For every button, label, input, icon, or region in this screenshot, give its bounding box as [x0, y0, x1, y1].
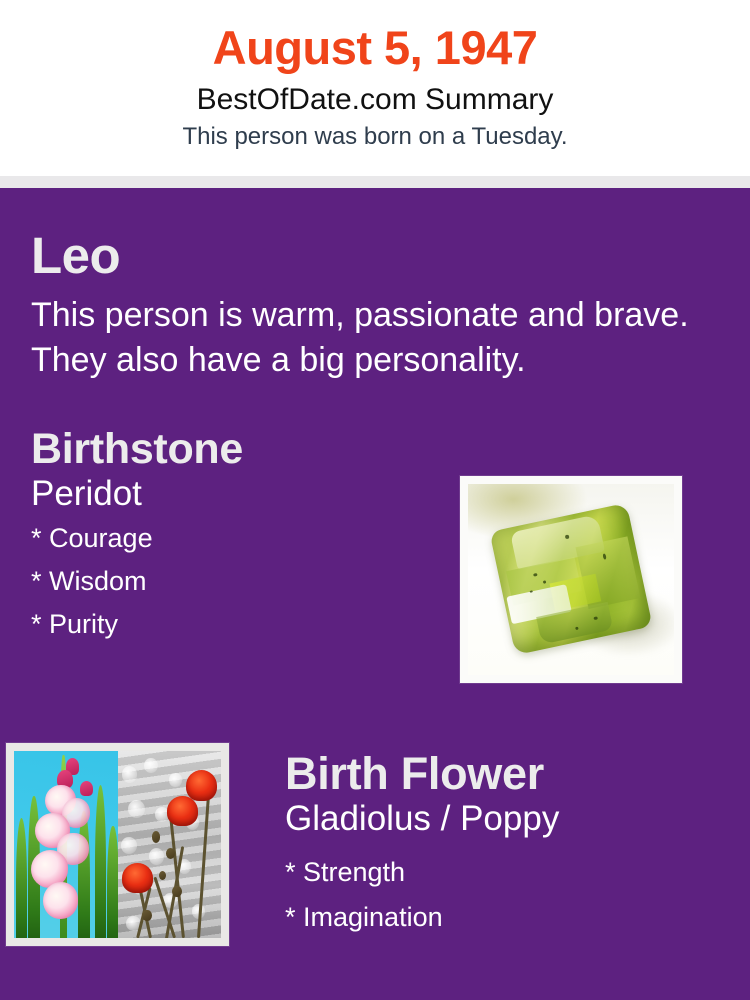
summary-card: August 5, 1947 BestOfDate.com Summary Th… — [0, 0, 750, 1000]
gladiolus-photo-half — [14, 751, 118, 938]
details-panel: Leo This person is warm, passionate and … — [0, 188, 750, 1000]
zodiac-section: Leo This person is warm, passionate and … — [31, 188, 719, 383]
site-name: BestOfDate.com Summary — [0, 83, 750, 118]
header-divider — [0, 176, 750, 188]
zodiac-sign-name: Leo — [31, 188, 719, 281]
birth-flower-heading: Birth Flower — [285, 750, 725, 797]
card-header: August 5, 1947 BestOfDate.com Summary Th… — [0, 0, 750, 176]
peridot-gemstone-icon — [468, 484, 674, 675]
birth-flower-image — [6, 743, 229, 946]
list-item: * Imagination — [285, 904, 725, 931]
list-item: * Strength — [285, 859, 725, 886]
zodiac-description: This person is warm, passionate and brav… — [31, 293, 691, 383]
born-day-text: This person was born on a Tuesday. — [0, 123, 750, 151]
birth-flower-section: Birth Flower Gladiolus / Poppy * Strengt… — [285, 750, 725, 949]
birth-flower-name: Gladiolus / Poppy — [285, 800, 725, 839]
gladiolus-poppy-icon — [14, 751, 221, 938]
birthstone-heading: Birthstone — [31, 427, 719, 472]
poppy-photo-half — [118, 751, 222, 938]
page-title-date: August 5, 1947 — [0, 22, 750, 74]
birth-flower-trait-list: * Strength * Imagination — [285, 859, 725, 931]
birthstone-image — [460, 476, 682, 683]
